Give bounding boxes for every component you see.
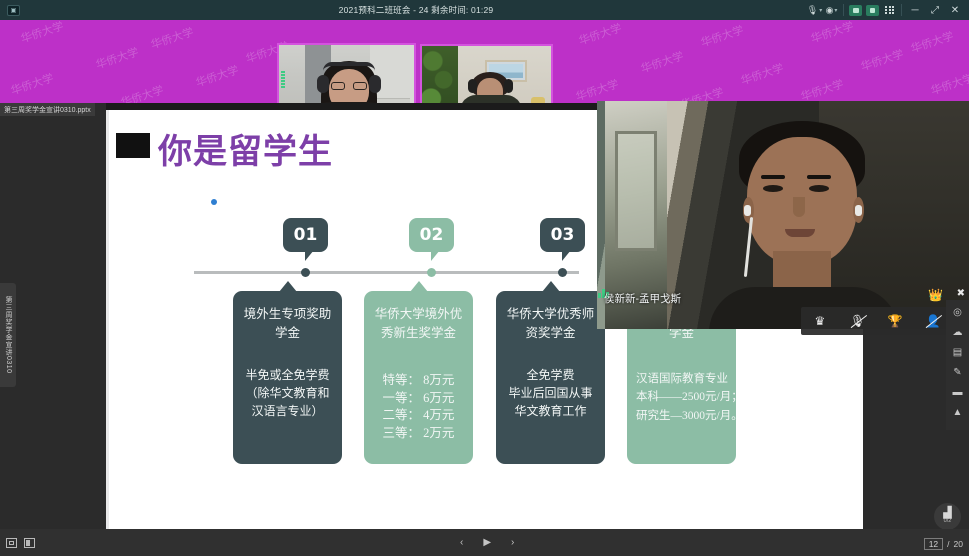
maximize-button[interactable]: ⤢ [925, 0, 945, 20]
avatar [761, 175, 785, 179]
card-body: 特等： 8万元 一等： 6万元 二等： 4万元 三等： 2万元 [371, 372, 466, 443]
briefcase-icon[interactable]: ▤ [953, 348, 962, 358]
scholarship-card: 华侨大学境外优秀新生奖学金 特等： 8万元 一等： 6万元 二等： 4万元 三等… [364, 291, 473, 464]
watermark: 华侨大学 [739, 60, 786, 89]
badge-label: 02 [420, 225, 444, 245]
card-body-line: 特等： 8万元 [371, 372, 466, 390]
slide-edge [106, 110, 109, 529]
watermark: 华侨大学 [909, 28, 956, 57]
card-body: 半免或全免学费 （除华文教育和 汉语言专业） [240, 366, 335, 420]
card-pointer [410, 281, 428, 292]
avatar [785, 229, 815, 237]
page-total: 20 [954, 539, 963, 549]
present-button[interactable] [866, 5, 879, 16]
watermark: 华侨大学 [799, 76, 846, 103]
card-body-line: （除华文教育和 [240, 384, 335, 402]
title-accent-square [116, 133, 150, 158]
card-body: 汉语国际教育专业 本科——2500元/月； 研究生—3000元/月。 [634, 370, 729, 426]
card-body-line: 毕业后回国从事 [503, 384, 598, 402]
watermark: 华侨大学 [194, 62, 241, 91]
present-icon [870, 8, 875, 13]
side-document-tab-label: 第三周奖学金宣讲0310 [3, 296, 13, 374]
record-icon[interactable]: ◎ [953, 308, 962, 318]
prev-slide-button[interactable]: ‹ [460, 537, 463, 548]
participant-filmstrip: 华侨大学 华侨大学 华侨大学 华侨大学 华侨大学 华侨大学 华侨大学 华侨大学 … [0, 20, 969, 103]
crown-icon: 👑 [928, 288, 943, 302]
chevron-down-icon[interactable]: ▾ [819, 7, 822, 14]
watermark: 华侨大学 [94, 44, 141, 73]
chat-icon[interactable]: ▬ [953, 388, 963, 398]
scholarship-card: 境外生专项奖助学金 半免或全免学费 （除华文教育和 汉语言专业） [233, 291, 342, 464]
headset-icon [317, 75, 329, 93]
card-body-line: 半免或全免学费 [240, 366, 335, 384]
watermark: 华侨大学 [929, 70, 969, 99]
meeting-title: 2021预科二班班会 - 24 剩余时间: 01:29 [26, 4, 806, 16]
window-titlebar: ▣ 2021预科二班班会 - 24 剩余时间: 01:29 🎙 ▾ ◉ ▾ ─ … [0, 0, 969, 20]
page-current[interactable]: 12 [924, 538, 943, 550]
app-logo: ▣ [0, 5, 26, 16]
card-body-line: 本科——2500元/月； [634, 388, 729, 407]
card-pointer [542, 281, 560, 292]
participant-tile[interactable]: 卡佳 - 张罗斯 ✋ [420, 44, 553, 103]
camera-control[interactable]: ◉ ▾ [823, 0, 840, 20]
video-feed [279, 45, 414, 103]
earbud-icon [855, 205, 862, 216]
timeline-badge-02: 02 [409, 218, 454, 252]
share-screen-button[interactable] [849, 5, 862, 16]
card-heading: 华侨大学境外优秀新生奖学金 [371, 305, 466, 344]
share-screen-icon [853, 8, 859, 13]
avatar [763, 185, 783, 192]
earbud-icon [744, 205, 751, 216]
headset-icon [323, 62, 375, 71]
bullet-dot [211, 199, 217, 205]
badge-label: 01 [294, 225, 318, 245]
slide-navigation: ‹ ▶ › [460, 537, 514, 548]
page-indicator: 12 / 20 [924, 538, 963, 550]
file-tab[interactable]: 第三周奖学金宣讲0310.pptx [0, 103, 95, 116]
video-hover-toolbar[interactable]: ♛ 🎙 🏆 👤 [801, 307, 952, 335]
headset-icon [504, 79, 513, 93]
glasses-icon [331, 82, 367, 90]
grid-view-button[interactable] [881, 0, 898, 20]
watermark: 华侨大学 [639, 48, 686, 77]
card-body-line: 汉语言专业） [240, 402, 335, 420]
audio-level-indicator [281, 71, 285, 88]
mic-muted-icon: ✖ [957, 288, 965, 299]
annotate-icon[interactable]: ✎ [953, 368, 961, 378]
annotation-count: 0/2 [944, 519, 952, 525]
side-document-tab[interactable]: 第三周奖学金宣讲0310 [0, 283, 16, 387]
scholarship-card: 华侨大学优秀师资奖学金 全免学费 毕业后回国从事 华文教育工作 [496, 291, 605, 464]
divider [901, 4, 902, 16]
bottom-toolbar: ‹ ▶ › 12 / 20 [0, 529, 969, 556]
app-logo-icon: ▣ [7, 5, 20, 16]
card-body-line: 全免学费 [503, 366, 598, 384]
card-heading: 境外生专项奖助学金 [240, 305, 335, 344]
watermark: 华侨大学 [809, 20, 856, 46]
chevron-down-icon[interactable]: ▾ [834, 7, 837, 14]
timeline-node [301, 268, 310, 277]
cloud-icon[interactable]: ☁ [953, 328, 963, 338]
avatar [460, 95, 522, 103]
next-slide-button[interactable]: › [511, 537, 514, 548]
watermark: 华侨大学 [149, 24, 196, 53]
timeline-badge-03: 03 [540, 218, 585, 252]
timeline-axis [194, 271, 579, 274]
participants-icon[interactable]: ▲ [953, 408, 963, 418]
badge-label: 03 [551, 225, 575, 245]
divider [843, 4, 844, 16]
card-pointer [279, 281, 297, 292]
watermark: 华侨大学 [859, 46, 906, 75]
watermark: 华侨大学 [574, 76, 621, 103]
timeline-node [427, 268, 436, 277]
layout-view-icon[interactable] [6, 538, 17, 548]
watermark: 华侨大学 [577, 20, 624, 48]
grid-view-icon [885, 6, 894, 15]
watermark: 华侨大学 [119, 82, 166, 103]
mic-control[interactable]: 🎙 ▾ [806, 0, 823, 20]
timeline-badge-01: 01 [283, 218, 328, 252]
play-slideshow-button[interactable]: ▶ [483, 537, 491, 548]
card-heading: 华侨大学优秀师资奖学金 [503, 305, 598, 344]
scene-radiator [376, 98, 410, 103]
camera-muted-icon[interactable]: 👤 [920, 314, 946, 328]
headset-icon [468, 79, 477, 93]
card-body-line: 二等： 4万元 [371, 407, 466, 425]
watermark: 华侨大学 [9, 70, 56, 99]
avatar [313, 102, 385, 103]
card-body-line: 三等： 2万元 [371, 425, 466, 443]
mic-muted-icon[interactable]: 🎙 [845, 314, 871, 328]
avatar [793, 197, 805, 217]
headset-icon [369, 75, 381, 93]
right-toolbar[interactable]: ◎ ☁ ▤ ✎ ▬ ▲ [946, 300, 969, 430]
card-body-line: 华文教育工作 [503, 402, 598, 420]
watermark: 华侨大学 [19, 20, 66, 46]
card-body-line: 一等： 6万元 [371, 390, 466, 408]
active-speaker-name: 侯新新-孟甲戈斯 [604, 291, 681, 306]
card-body-line: 汉语国际教育专业 [634, 370, 729, 389]
video-feed [422, 46, 551, 103]
close-button[interactable]: ✕ [945, 0, 965, 20]
card-body-line: 研究生—3000元/月。 [634, 407, 729, 426]
scene-plant [422, 46, 458, 103]
card-body: 全免学费 毕业后回国从事 华文教育工作 [503, 366, 598, 420]
page-separator: / [947, 539, 949, 549]
avatar [807, 175, 831, 179]
trophy-icon[interactable]: 🏆 [882, 314, 908, 328]
camera-icon: ◉ [826, 5, 834, 16]
slide-title: 你是留学生 [158, 124, 333, 173]
crown-icon[interactable]: ♛ [807, 314, 833, 328]
annotation-button[interactable]: ▟ 0/2 [934, 503, 961, 530]
microphone-icon: 🎙 [807, 5, 818, 16]
participant-tile[interactable]: 芳芳老师 [277, 43, 416, 103]
avatar [809, 185, 829, 192]
minimize-button[interactable]: ─ [905, 0, 925, 20]
timeline-node [558, 268, 567, 277]
scene-lamp [531, 97, 545, 103]
notes-view-icon[interactable] [24, 538, 35, 548]
watermark: 华侨大学 [699, 22, 746, 51]
